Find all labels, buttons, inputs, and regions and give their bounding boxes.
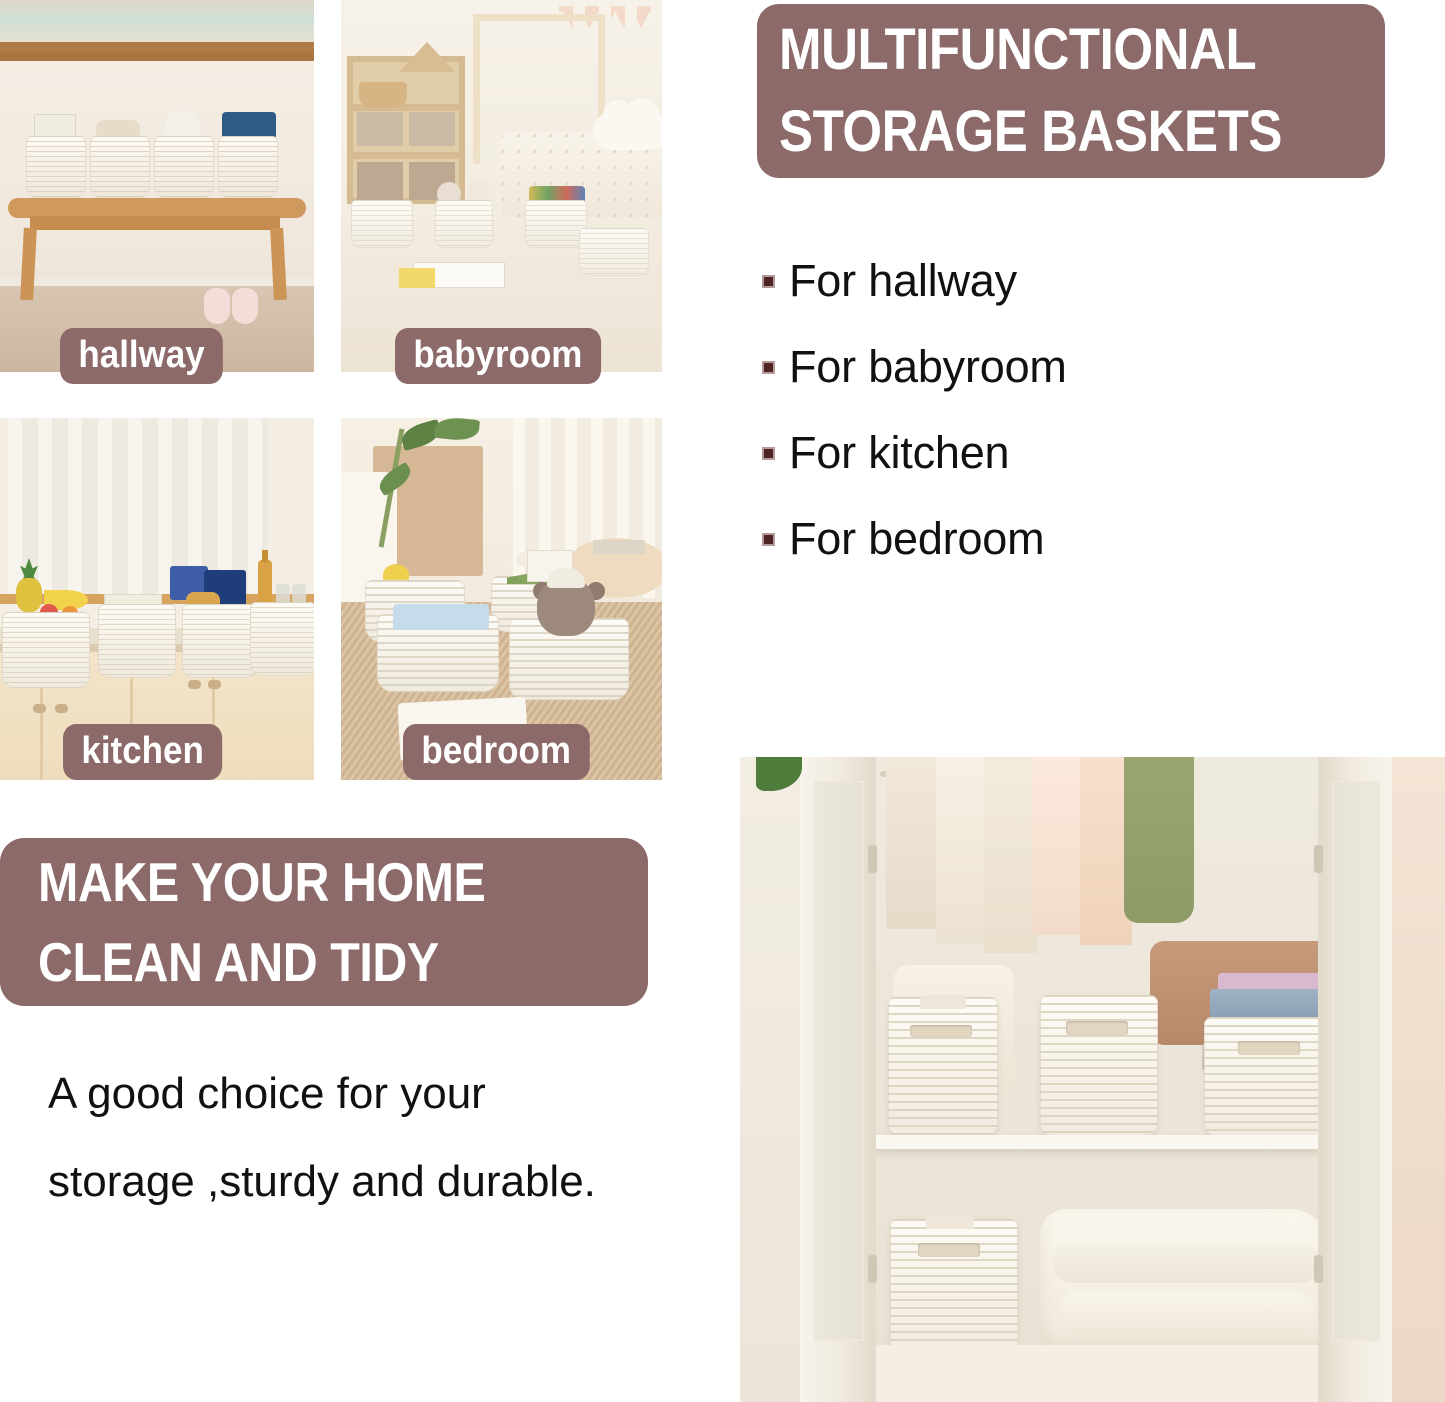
page-title-line-1: MULTIFUNCTIONAL (779, 9, 1293, 91)
infographic-page: hallway babyroom kitc (0, 0, 1445, 1402)
feature-bullet-list: For hallway For babyroom For kitchen For… (762, 238, 1362, 582)
bullet-label: For kitchen (789, 427, 1009, 479)
square-bullet-icon (762, 361, 775, 374)
list-item: For hallway (762, 238, 1362, 324)
page-title-banner: MULTIFUNCTIONAL STORAGE BASKETS (757, 4, 1385, 178)
tile-caption-hallway: hallway (60, 328, 223, 384)
tile-caption-babyroom: babyroom (395, 328, 601, 384)
tile-caption-bedroom: bedroom (403, 724, 589, 780)
page-title-line-2: STORAGE BASKETS (779, 91, 1293, 173)
tile-caption-kitchen: kitchen (63, 724, 222, 780)
bullet-label: For hallway (789, 255, 1017, 307)
list-item: For babyroom (762, 324, 1362, 410)
promo-headline-line-2: CLEAN AND TIDY (38, 922, 541, 1002)
bullet-label: For babyroom (789, 341, 1067, 393)
hero-photo-wardrobe (740, 757, 1445, 1402)
list-item: For bedroom (762, 496, 1362, 582)
square-bullet-icon (762, 447, 775, 460)
square-bullet-icon (762, 275, 775, 288)
square-bullet-icon (762, 533, 775, 546)
promo-headline-line-1: MAKE YOUR HOME (38, 842, 541, 922)
photo-tile-hallway (0, 0, 314, 372)
promo-paragraph: A good choice for your storage ,sturdy a… (48, 1050, 608, 1226)
photo-tile-babyroom (341, 0, 662, 372)
promo-headline-banner: MAKE YOUR HOME CLEAN AND TIDY (0, 838, 648, 1006)
list-item: For kitchen (762, 410, 1362, 496)
bullet-label: For bedroom (789, 513, 1044, 565)
